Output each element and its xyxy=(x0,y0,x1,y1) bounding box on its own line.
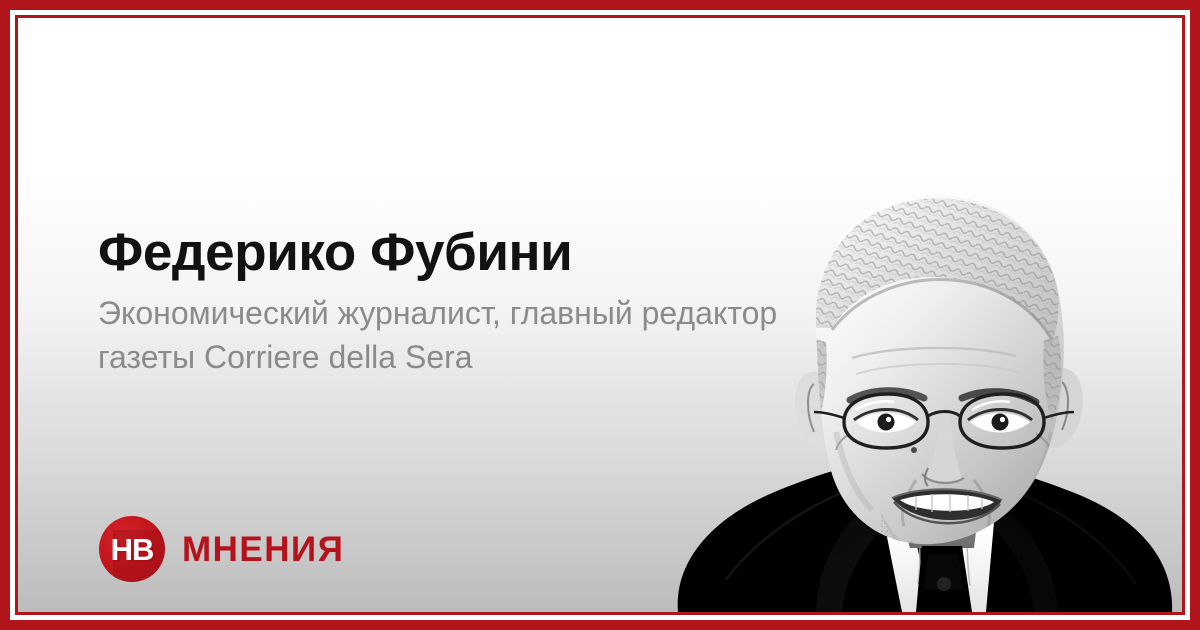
person-info: Федерико Фубини Экономический журналист,… xyxy=(98,225,798,379)
portrait-photo xyxy=(666,150,1182,612)
brand-logo[interactable]: НВ МНЕНИЯ xyxy=(99,516,344,582)
person-role: Экономический журналист, главный редакто… xyxy=(98,291,778,379)
card-canvas: Федерико Фубини Экономический журналист,… xyxy=(18,18,1182,612)
opinion-card: Федерико Фубини Экономический журналист,… xyxy=(0,0,1200,630)
nv-monogram: НВ xyxy=(99,516,165,582)
brand-section-label: МНЕНИЯ xyxy=(182,532,344,567)
nv-circle-logo-icon[interactable]: НВ xyxy=(99,516,165,582)
page-title: Федерико Фубини xyxy=(98,225,798,281)
